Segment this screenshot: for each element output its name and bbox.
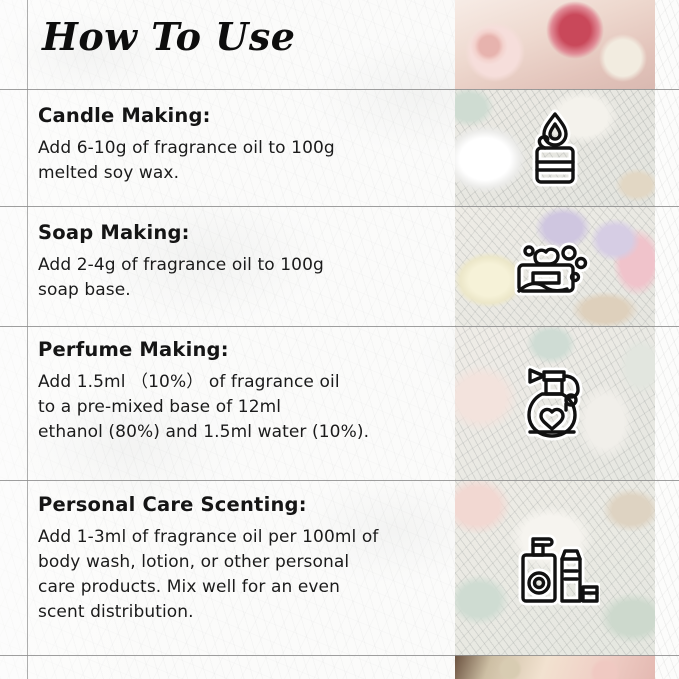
body-line: ethanol (80%) and 1.5ml water (10%). [38, 420, 448, 445]
body-line: soap base. [38, 278, 448, 303]
section-heading: Soap Making: [38, 221, 448, 244]
floral-photograph-band [455, 655, 655, 679]
section-heading: Perfume Making: [38, 338, 448, 361]
body-line: to a pre-mixed base of 12ml [38, 395, 448, 420]
rose-photograph-band [455, 0, 655, 89]
section-body: Add 1-3ml of fragrance oil per 100ml of … [38, 525, 448, 626]
content-column: How To Use Candle Making: Add 6-10g of f… [0, 0, 455, 679]
body-line: Add 1.5ml （10%） of fragrance oil [38, 370, 448, 395]
perfume-bottle-icon [455, 326, 655, 480]
section-body: Add 6-10g of fragrance oil to 100g melte… [38, 136, 448, 186]
candle-icon [455, 89, 655, 206]
section-candle-making: Candle Making: Add 6-10g of fragrance oi… [38, 104, 448, 186]
page-title: How To Use [42, 14, 295, 59]
body-line: Add 1-3ml of fragrance oil per 100ml of [38, 525, 448, 550]
right-edge-sliver [655, 0, 679, 679]
body-line: scent distribution. [38, 600, 448, 625]
decor-side-panel [455, 0, 655, 679]
soap-bar-icon [455, 206, 655, 326]
section-body: Add 1.5ml （10%） of fragrance oil to a pr… [38, 370, 448, 445]
body-line: care products. Mix well for an even [38, 575, 448, 600]
personal-care-products-icon [455, 480, 655, 655]
section-personal-care-scenting: Personal Care Scenting: Add 1-3ml of fra… [38, 493, 448, 626]
section-perfume-making: Perfume Making: Add 1.5ml （10%） of fragr… [38, 338, 448, 445]
section-heading: Personal Care Scenting: [38, 493, 448, 516]
body-line: melted soy wax. [38, 161, 448, 186]
how-to-use-infographic: How To Use Candle Making: Add 6-10g of f… [0, 0, 679, 679]
section-body: Add 2-4g of fragrance oil to 100g soap b… [38, 253, 448, 303]
body-line: Add 2-4g of fragrance oil to 100g [38, 253, 448, 278]
body-line: body wash, lotion, or other personal [38, 550, 448, 575]
section-heading: Candle Making: [38, 104, 448, 127]
body-line: Add 6-10g of fragrance oil to 100g [38, 136, 448, 161]
section-soap-making: Soap Making: Add 2-4g of fragrance oil t… [38, 221, 448, 303]
